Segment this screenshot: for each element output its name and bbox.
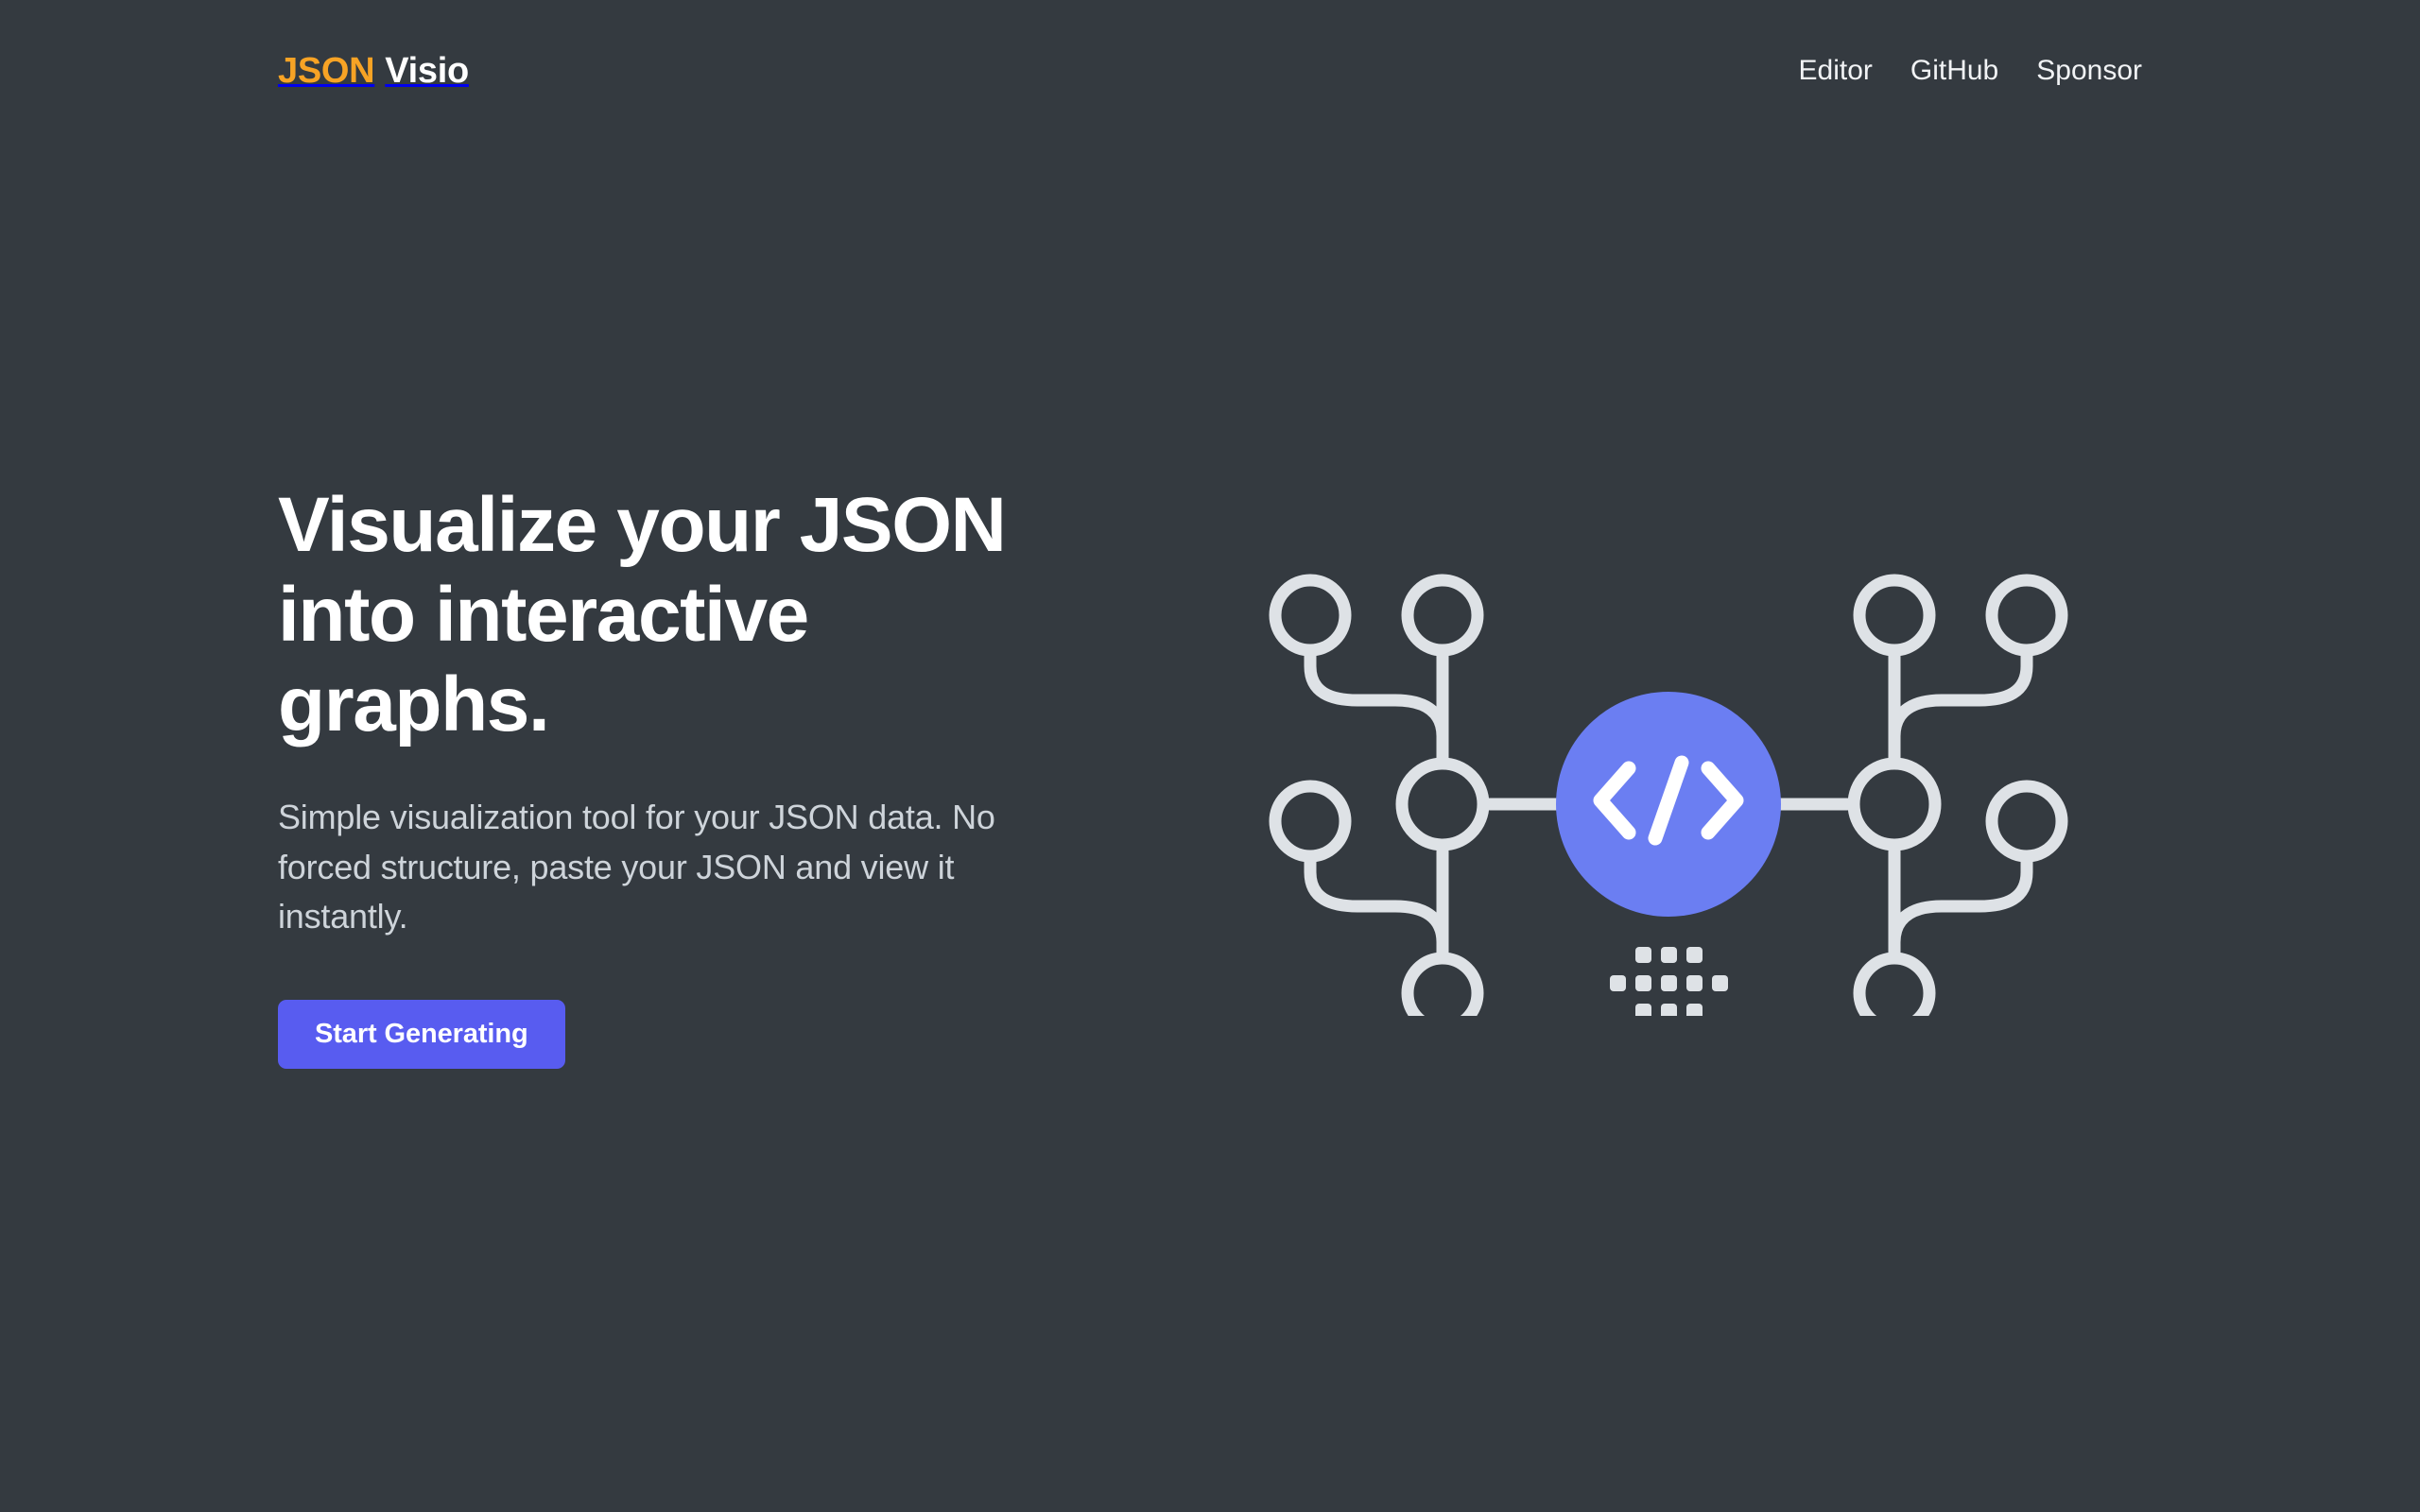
page-title: Visualize your JSON into interactive gra… <box>278 480 1091 749</box>
nav-link-editor[interactable]: Editor <box>1799 57 1873 85</box>
nav-link-github[interactable]: GitHub <box>1910 57 1998 85</box>
hero-illustration <box>1219 524 2117 1016</box>
edge-right-outer-top <box>1894 645 2027 757</box>
start-generating-button[interactable]: Start Generating <box>278 1000 565 1069</box>
node-left-outer-mid <box>1275 786 1345 856</box>
site-header: JSONVisio Editor GitHub Sponsor <box>0 0 2420 142</box>
main-navigation: Editor GitHub Sponsor <box>1799 57 2143 85</box>
edge-left-outer-top <box>1310 645 1443 757</box>
node-right-top <box>1859 580 1929 650</box>
edge-left-outer-mid <box>1310 851 1443 963</box>
hero-section: Visualize your JSON into interactive gra… <box>0 142 2420 1512</box>
dot-grid-icon <box>1610 947 1728 1016</box>
hero-copy: Visualize your JSON into interactive gra… <box>278 480 1129 1069</box>
landing-page: JSONVisio Editor GitHub Sponsor Visualiz… <box>0 0 2420 1512</box>
brand-logo-visio: Visio <box>385 51 469 91</box>
node-right-bottom <box>1859 958 1929 1016</box>
brand-logo[interactable]: JSONVisio <box>278 53 469 89</box>
node-left-hub <box>1402 764 1483 845</box>
node-right-hub <box>1854 764 1935 845</box>
nav-link-sponsor[interactable]: Sponsor <box>2036 57 2142 85</box>
hero-subtitle: Simple visualization tool for your JSON … <box>278 793 1053 941</box>
node-right-outer-top <box>1992 580 2062 650</box>
brand-logo-json: JSON <box>278 51 374 91</box>
node-left-top <box>1408 580 1478 650</box>
edge-right-outer-mid <box>1894 851 2027 963</box>
json-graph-illustration <box>1219 524 2117 1016</box>
node-left-bottom <box>1408 958 1478 1016</box>
node-left-outer-top <box>1275 580 1345 650</box>
node-right-outer-mid <box>1992 786 2062 856</box>
